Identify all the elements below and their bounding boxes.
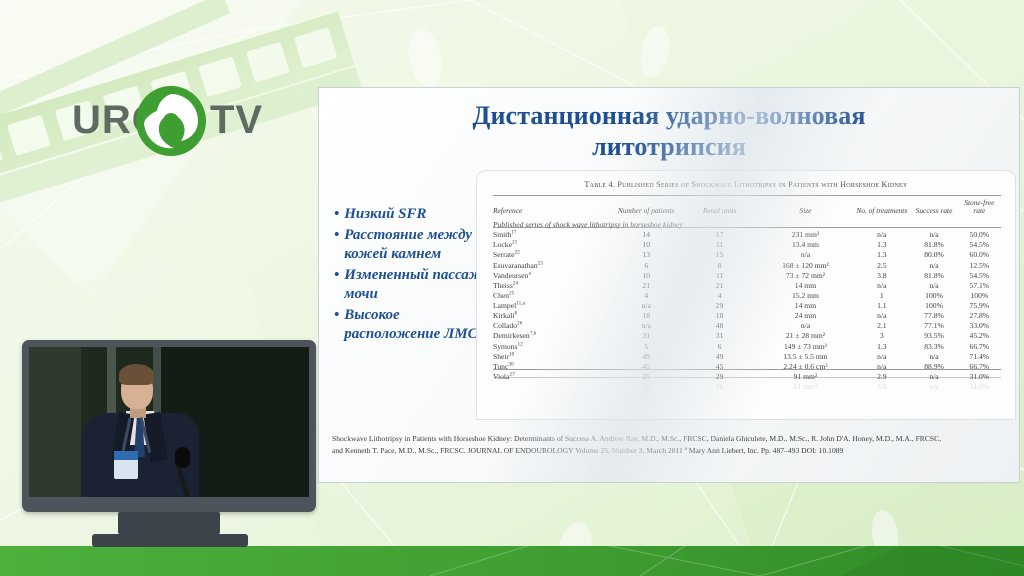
cell-success-rate: 77.1% bbox=[910, 321, 957, 331]
cell-stone-free-rate: 71.4% bbox=[958, 351, 1001, 361]
cell-size: 13.5 ± 5.5 mm bbox=[758, 351, 854, 361]
cell-size: 2.24 ± 0.6 cm² bbox=[758, 361, 854, 371]
reference-superscript: 23 bbox=[538, 260, 543, 266]
cell-treatments: 2.5 bbox=[853, 260, 910, 270]
speaker-hair bbox=[119, 364, 154, 385]
cell-renal-units: 6 bbox=[682, 341, 758, 351]
bullet-text: Низкий SFR bbox=[344, 205, 486, 225]
cell-reference: Kirkali8 bbox=[493, 311, 611, 321]
cell-reference: Tunc30 bbox=[493, 361, 611, 371]
list-item: • Измененный пассаж мочи bbox=[334, 266, 486, 305]
cell-success-rate: 88.9% bbox=[910, 361, 957, 371]
reference-superscript: 21 bbox=[512, 240, 517, 246]
cell-stone-free-rate: 66.7% bbox=[958, 361, 1001, 371]
cell-renal-units: 17 bbox=[682, 230, 758, 240]
table-row: Lampel11,an/a2914 mm1.1100%75.9% bbox=[493, 301, 1001, 311]
cell-reference: Collado26 bbox=[493, 321, 611, 331]
reference-superscript: 26 bbox=[517, 321, 522, 327]
cell-success-rate: n/a bbox=[910, 371, 957, 381]
cell-patients: 32 bbox=[611, 382, 682, 392]
cell-patients: 5 bbox=[611, 341, 682, 351]
cell-renal-units: 4 bbox=[682, 290, 758, 300]
cell-success-rate: n/a bbox=[910, 280, 957, 290]
microphone-icon bbox=[175, 447, 190, 468]
cell-treatments: 1.3 bbox=[853, 240, 910, 250]
col-header-stone-free-rate: Stone-free rate bbox=[958, 197, 1001, 220]
col-header-renal-units: Renal units bbox=[682, 197, 758, 220]
table-caption: Table 4. Published Series of Shockwave L… bbox=[477, 180, 1015, 189]
cell-patients: 45 bbox=[611, 361, 682, 371]
cell-treatments: n/a bbox=[853, 280, 910, 290]
table-row: Locke21101113.4 mm1.381.8%54.5% bbox=[493, 240, 1001, 250]
table-row: Demirkesen7,b313121 ± 28 mm²393.5%45.2% bbox=[493, 331, 1001, 341]
cell-treatments: 3.6 bbox=[853, 382, 910, 392]
table-header-row: Reference Number of patients Renal units… bbox=[493, 197, 1001, 220]
reference-superscript: 22 bbox=[515, 250, 520, 256]
bullet-marker: • bbox=[334, 306, 339, 345]
cell-renal-units: 15 bbox=[682, 250, 758, 260]
cell-patients: n/a bbox=[611, 321, 682, 331]
cell-stone-free-rate: 50.0% bbox=[958, 230, 1001, 240]
cell-reference: Vandeursena bbox=[493, 270, 611, 280]
reference-superscript: 10 bbox=[509, 351, 514, 357]
table-row: Vandeursena101173 ± 72 mm²3.881.8%54.5% bbox=[493, 270, 1001, 280]
cell-renal-units: 18 bbox=[682, 311, 758, 321]
cell-patients: 10 bbox=[611, 240, 682, 250]
urotv-logo: URO TV bbox=[72, 84, 262, 156]
slide-title-line2: литотрипсия bbox=[319, 132, 1019, 163]
logo-text-tv: TV bbox=[210, 98, 263, 143]
table-row: Symons1256149 ± 73 mm²1.383.3%66.7% bbox=[493, 341, 1001, 351]
table-header: Reference Number of patients Renal units… bbox=[493, 197, 1001, 220]
cell-stone-free-rate: 54.5% bbox=[958, 240, 1001, 250]
video-background-left bbox=[29, 347, 81, 497]
cell-success-rate: 80.0% bbox=[910, 250, 957, 260]
bullet-list: • Низкий SFR • Расстояние между кожей ка… bbox=[334, 205, 486, 346]
cell-treatments: 3 bbox=[853, 331, 910, 341]
speaker-badge-header bbox=[114, 451, 138, 460]
cell-size: n/a bbox=[758, 321, 854, 331]
bullet-marker: • bbox=[334, 266, 339, 305]
cell-treatments: 2.9 bbox=[853, 371, 910, 381]
cell-stone-free-rate: 27.8% bbox=[958, 311, 1001, 321]
cell-stone-free-rate: 66.7% bbox=[958, 341, 1001, 351]
cell-size: 24 mm bbox=[758, 311, 854, 321]
video-screen[interactable] bbox=[29, 347, 309, 497]
cell-patients: 6 bbox=[611, 260, 682, 270]
cell-patients: 25 bbox=[611, 371, 682, 381]
cell-stone-free-rate: 12.5% bbox=[958, 260, 1001, 270]
cell-size: n/a bbox=[758, 250, 854, 260]
cell-success-rate: 81.8% bbox=[910, 270, 957, 280]
cell-renal-units: 11 bbox=[682, 240, 758, 250]
bullet-text: Расстояние между кожей камнем bbox=[344, 226, 486, 265]
cell-renal-units: 21 bbox=[682, 280, 758, 290]
leaf-swirl-emblem-icon bbox=[134, 84, 208, 158]
cell-treatments: 1.3 bbox=[853, 250, 910, 260]
table-row: Viola27252991 mm²2.9n/a31.0% bbox=[493, 371, 1001, 381]
cell-size: 91 mm² bbox=[758, 371, 854, 381]
cell-treatments: 1.3 bbox=[853, 341, 910, 351]
cell-treatments: 1.1 bbox=[853, 301, 910, 311]
cell-size: 21 ± 28 mm² bbox=[758, 331, 854, 341]
cell-reference: Chen25 bbox=[493, 290, 611, 300]
monitor-stand-base bbox=[92, 534, 248, 547]
cell-reference: Smith17 bbox=[493, 230, 611, 240]
table-row: Kirkali8181824 mmn/a77.8%27.8% bbox=[493, 311, 1001, 321]
reference-superscript: a bbox=[528, 270, 530, 276]
citation-text: Shockwave Lithotripsy in Patients with H… bbox=[332, 433, 952, 456]
cell-stone-free-rate: 31.0% bbox=[958, 382, 1001, 392]
cell-reference: Serrate22 bbox=[493, 250, 611, 260]
slide-title-line1: Дистанционная ударно-волновая bbox=[319, 101, 1019, 132]
cell-size: 14 mm bbox=[758, 301, 854, 311]
cell-patients: 21 bbox=[611, 280, 682, 290]
table-row: Smith171417231 mm²n/an/a50.0% bbox=[493, 230, 1001, 240]
footer-band-pattern bbox=[0, 546, 1024, 576]
cell-success-rate: 93.5% bbox=[910, 331, 957, 341]
bullet-text: Высокое расположение ЛМС bbox=[344, 306, 486, 345]
cell-success-rate: n/a bbox=[910, 351, 957, 361]
cell-success-rate: n/a bbox=[910, 382, 957, 392]
list-item: • Высокое расположение ЛМС bbox=[334, 306, 486, 345]
cell-renal-units: 29 bbox=[682, 371, 758, 381]
presentation-slide[interactable]: Дистанционная ударно-волновая литотрипси… bbox=[318, 87, 1020, 483]
reference-superscript: 12 bbox=[517, 341, 522, 347]
cell-stone-free-rate: 75.9% bbox=[958, 301, 1001, 311]
cell-size: 231 mm² bbox=[758, 230, 854, 240]
table-row: Collado26n/a48n/a2.177.1%33.0% bbox=[493, 321, 1001, 331]
cell-renal-units: 29 bbox=[682, 301, 758, 311]
cell-success-rate: n/a bbox=[910, 230, 957, 240]
cell-treatments: n/a bbox=[853, 230, 910, 240]
cell-success-rate: 81.8% bbox=[910, 240, 957, 250]
table-body: Published series of shock wave lithotrip… bbox=[493, 220, 1001, 392]
published-series-table: Reference Number of patients Renal units… bbox=[493, 197, 1001, 392]
reference-superscript: 24 bbox=[513, 280, 518, 286]
list-item: • Низкий SFR bbox=[334, 205, 486, 225]
cell-reference: Sheir10 bbox=[493, 351, 611, 361]
monitor-stand-neck bbox=[118, 512, 220, 534]
cell-renal-units: 45 bbox=[682, 361, 758, 371]
cell-treatments: 1 bbox=[853, 290, 910, 300]
cell-size: 15.2 mm bbox=[758, 290, 854, 300]
cell-reference: Viola27 bbox=[493, 371, 611, 381]
cell-reference bbox=[493, 382, 611, 392]
cell-stone-free-rate: 60.0% bbox=[958, 250, 1001, 260]
table-section-label: Published series of shock wave lithotrip… bbox=[493, 220, 1001, 230]
cell-size: 168 ± 120 mm² bbox=[758, 260, 854, 270]
cell-success-rate: 77.8% bbox=[910, 311, 957, 321]
cell-renal-units: 11 bbox=[682, 270, 758, 280]
cell-treatments: 3.8 bbox=[853, 270, 910, 280]
cell-patients: 14 bbox=[611, 230, 682, 240]
footer-band bbox=[0, 546, 1024, 576]
slide-title: Дистанционная ударно-волновая литотрипси… bbox=[319, 101, 1019, 162]
reference-superscript: 17 bbox=[511, 230, 516, 236]
cell-success-rate: 100% bbox=[910, 301, 957, 311]
table-row: Tunc3045452.24 ± 0.6 cm²n/a88.9%66.7% bbox=[493, 361, 1001, 371]
cell-reference: Locke21 bbox=[493, 240, 611, 250]
cell-treatments: n/a bbox=[853, 351, 910, 361]
video-monitor[interactable] bbox=[22, 340, 316, 545]
cell-size: 14 mm bbox=[758, 280, 854, 290]
col-header-patients: Number of patients bbox=[611, 197, 682, 220]
cell-patients: 31 bbox=[611, 331, 682, 341]
table-rule-top bbox=[493, 195, 1001, 196]
cell-reference: Esuvaranathan23 bbox=[493, 260, 611, 270]
table-row: 323661 mm²3.6n/a31.0% bbox=[493, 382, 1001, 392]
cell-success-rate: 83.3% bbox=[910, 341, 957, 351]
table-row: Serrate221315n/a1.380.0%60.0% bbox=[493, 250, 1001, 260]
cell-renal-units: 31 bbox=[682, 331, 758, 341]
col-header-reference: Reference bbox=[493, 197, 611, 220]
table-row: Chen254415.2 mm1100%100% bbox=[493, 290, 1001, 300]
cell-treatments: 2.1 bbox=[853, 321, 910, 331]
table-row: Theiss24212114 mmn/an/a57.1% bbox=[493, 280, 1001, 290]
cell-stone-free-rate: 57.1% bbox=[958, 280, 1001, 290]
cell-size: 61 mm² bbox=[758, 382, 854, 392]
cell-reference: Symons12 bbox=[493, 341, 611, 351]
cell-reference: Demirkesen7,b bbox=[493, 331, 611, 341]
reference-superscript: 7,b bbox=[530, 331, 537, 337]
cell-stone-free-rate: 31.0% bbox=[958, 371, 1001, 381]
cell-patients: 49 bbox=[611, 351, 682, 361]
cell-success-rate: 100% bbox=[910, 290, 957, 300]
reference-superscript: 8 bbox=[515, 311, 518, 317]
col-header-size: Size bbox=[758, 197, 854, 220]
cell-renal-units: 48 bbox=[682, 321, 758, 331]
cell-reference: Theiss24 bbox=[493, 280, 611, 290]
cell-patients: 4 bbox=[611, 290, 682, 300]
cell-size: 13.4 mm bbox=[758, 240, 854, 250]
cell-patients: 13 bbox=[611, 250, 682, 260]
cell-treatments: n/a bbox=[853, 311, 910, 321]
table-section-row: Published series of shock wave lithotrip… bbox=[493, 220, 1001, 230]
cell-stone-free-rate: 100% bbox=[958, 290, 1001, 300]
table-row: Sheir10494913.5 ± 5.5 mmn/an/a71.4% bbox=[493, 351, 1001, 361]
monitor-bezel bbox=[22, 340, 316, 512]
cell-patients: 18 bbox=[611, 311, 682, 321]
cell-stone-free-rate: 45.2% bbox=[958, 331, 1001, 341]
cell-renal-units: 8 bbox=[682, 260, 758, 270]
reference-superscript: 25 bbox=[509, 290, 514, 296]
col-header-treatments: No. of treatments bbox=[853, 197, 910, 220]
cell-treatments: n/a bbox=[853, 361, 910, 371]
cell-stone-free-rate: 54.5% bbox=[958, 270, 1001, 280]
cell-patients: 10 bbox=[611, 270, 682, 280]
table-row: Esuvaranathan2368168 ± 120 mm²2.5n/a12.5… bbox=[493, 260, 1001, 270]
cell-reference: Lampel11,a bbox=[493, 301, 611, 311]
cell-renal-units: 49 bbox=[682, 351, 758, 361]
cell-size: 149 ± 73 mm² bbox=[758, 341, 854, 351]
reference-superscript: 11,a bbox=[516, 300, 525, 306]
bullet-text: Измененный пассаж мочи bbox=[344, 266, 486, 305]
cell-success-rate: n/a bbox=[910, 260, 957, 270]
bullet-marker: • bbox=[334, 205, 339, 225]
reference-superscript: 27 bbox=[509, 371, 514, 377]
bullet-marker: • bbox=[334, 226, 339, 265]
cell-stone-free-rate: 33.0% bbox=[958, 321, 1001, 331]
col-header-success-rate: Success rate bbox=[910, 197, 957, 220]
cell-size: 73 ± 72 mm² bbox=[758, 270, 854, 280]
cell-renal-units: 36 bbox=[682, 382, 758, 392]
published-series-table-card: Table 4. Published Series of Shockwave L… bbox=[477, 171, 1015, 419]
reference-superscript: 30 bbox=[508, 361, 513, 367]
cell-patients: n/a bbox=[611, 301, 682, 311]
list-item: • Расстояние между кожей камнем bbox=[334, 226, 486, 265]
